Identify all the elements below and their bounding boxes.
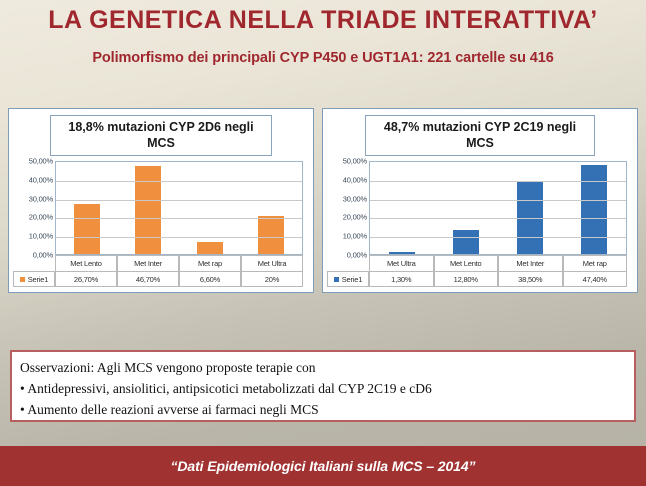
y-axis-tick-label: 20,00%	[13, 213, 53, 222]
legend-entry: Serie1	[13, 271, 55, 287]
data-table-category-row: Met LentoMet InterMet rapMet Ultra	[13, 255, 303, 271]
legend-swatch-icon	[20, 277, 25, 282]
page-subtitle: Polimorfismo dei principali CYP P450 e U…	[0, 50, 646, 66]
y-axis-tick-label: 50,00%	[327, 157, 367, 166]
bar-cell	[118, 162, 180, 254]
plot-area-wrapper: 50,00%40,00%30,00%20,00%10,00%0,00%	[323, 161, 637, 255]
gridline	[370, 218, 626, 219]
bar[interactable]	[453, 230, 480, 254]
bar-group	[370, 162, 626, 254]
data-table-corner	[13, 255, 55, 271]
y-axis-tick-label: 40,00%	[13, 175, 53, 184]
y-axis-labels: 50,00%40,00%30,00%20,00%10,00%0,00%	[327, 161, 367, 255]
data-table-corner	[327, 255, 369, 271]
bar-cell	[241, 162, 303, 254]
legend-entry: Serie1	[327, 271, 369, 287]
legend-label: Serie1	[28, 275, 48, 284]
data-table-value-cell: 1,30%	[369, 271, 434, 287]
data-table-value-cell: 47,40%	[563, 271, 628, 287]
data-table-category-cell: Met rap	[179, 255, 241, 271]
observations-box: Osservazioni: Agli MCS vengono proposte …	[10, 350, 636, 422]
chart-panel-cyp2c19: 48,7% mutazioni CYP 2C19 negli MCS 50,00…	[322, 108, 638, 293]
data-table-category-cell: Met rap	[563, 255, 628, 271]
legend-label: Serie1	[342, 275, 362, 284]
y-axis-tick-label: 10,00%	[327, 232, 367, 241]
bar-cell	[56, 162, 118, 254]
chart-data-table: Met UltraMet LentoMet InterMet rap Serie…	[327, 255, 627, 287]
bar-cell	[434, 162, 498, 254]
y-axis-tick-label: 40,00%	[327, 175, 367, 184]
bar-cell	[370, 162, 434, 254]
gridline	[370, 200, 626, 201]
y-axis-labels: 50,00%40,00%30,00%20,00%10,00%0,00%	[13, 161, 53, 255]
bar[interactable]	[197, 242, 223, 254]
observation-line: Osservazioni: Agli MCS vengono proposte …	[20, 357, 626, 378]
data-table-category-cell: Met Inter	[498, 255, 563, 271]
y-axis-tick-label: 30,00%	[13, 194, 53, 203]
plot-area	[369, 161, 627, 255]
bar[interactable]	[258, 216, 284, 254]
bar-cell	[562, 162, 626, 254]
data-table-value-row: Serie1 26,70%46,70%6,60%20%	[13, 271, 303, 287]
bar[interactable]	[581, 165, 608, 254]
data-table-value-cell: 46,70%	[117, 271, 179, 287]
chart-data-table: Met LentoMet InterMet rapMet Ultra Serie…	[13, 255, 303, 287]
y-axis-tick-label: 20,00%	[327, 213, 367, 222]
gridline	[56, 181, 302, 182]
data-table-category-cell: Met Ultra	[241, 255, 303, 271]
observation-line: • Antidepressivi, ansiolitici, antipsico…	[20, 378, 626, 399]
data-table-category-cell: Met Lento	[434, 255, 499, 271]
bar[interactable]	[74, 204, 100, 254]
legend-swatch-icon	[334, 277, 339, 282]
y-axis-tick-label: 10,00%	[13, 232, 53, 241]
bar-cell	[498, 162, 562, 254]
data-table-category-row: Met UltraMet LentoMet InterMet rap	[327, 255, 627, 271]
y-axis-tick-label: 50,00%	[13, 157, 53, 166]
chart-title: 18,8% mutazioni CYP 2D6 negli MCS	[50, 115, 272, 156]
gridline	[370, 181, 626, 182]
gridline	[56, 200, 302, 201]
page-title: LA GENETICA NELLA TRIADE INTERATTIVA’	[0, 6, 646, 35]
gridline	[56, 237, 302, 238]
bar[interactable]	[135, 166, 161, 254]
data-table-value-cell: 12,80%	[434, 271, 499, 287]
gridline	[370, 237, 626, 238]
data-table-value-row: Serie1 1,30%12,80%38,50%47,40%	[327, 271, 627, 287]
chart-title: 48,7% mutazioni CYP 2C19 negli MCS	[365, 115, 595, 156]
slide-footer: “Dati Epidemiologici Italiani sulla MCS …	[0, 446, 646, 486]
data-table-category-cell: Met Ultra	[369, 255, 434, 271]
data-table-value-cell: 26,70%	[55, 271, 117, 287]
footer-caption: “Dati Epidemiologici Italiani sulla MCS …	[171, 458, 476, 474]
slide-header: LA GENETICA NELLA TRIADE INTERATTIVA’ Po…	[0, 0, 646, 88]
plot-area	[55, 161, 303, 255]
bar-cell	[179, 162, 241, 254]
chart-panel-cyp2d6: 18,8% mutazioni CYP 2D6 negli MCS 50,00%…	[8, 108, 314, 293]
bar[interactable]	[389, 252, 416, 254]
bar-group	[56, 162, 302, 254]
observation-line: • Aumento delle reazioni avverse ai farm…	[20, 399, 626, 420]
gridline	[56, 218, 302, 219]
y-axis-tick-label: 30,00%	[327, 194, 367, 203]
data-table-value-cell: 20%	[241, 271, 303, 287]
data-table-value-cell: 6,60%	[179, 271, 241, 287]
data-table-category-cell: Met Inter	[117, 255, 179, 271]
data-table-value-cell: 38,50%	[498, 271, 563, 287]
data-table-category-cell: Met Lento	[55, 255, 117, 271]
plot-area-wrapper: 50,00%40,00%30,00%20,00%10,00%0,00%	[9, 161, 313, 255]
